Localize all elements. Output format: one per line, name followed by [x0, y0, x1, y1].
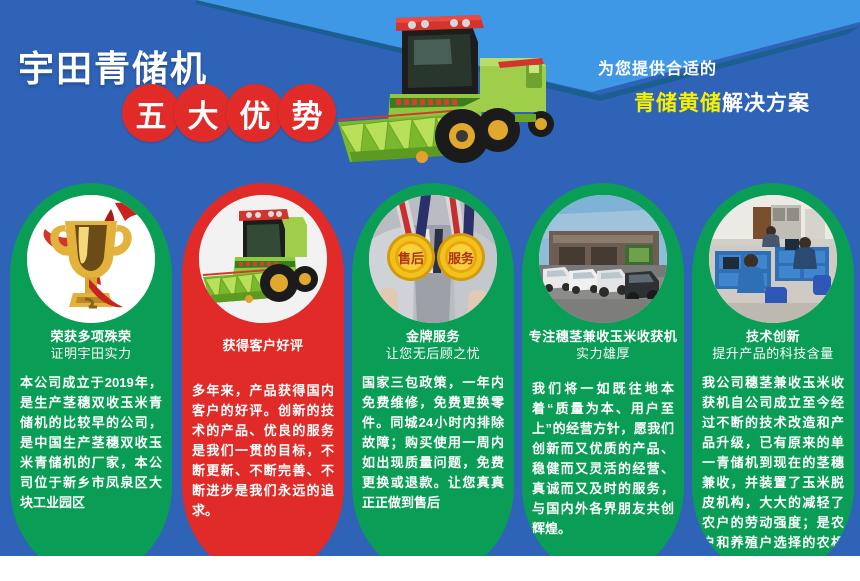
corn-silage-harvester-image — [330, 2, 580, 174]
card-1-title: 荣获多项殊荣 证明宇田实力 — [14, 328, 168, 363]
card-2-body: 多年来，产品获得国内客户的好评。创新的技术的产品、优良的服务是我们一贯的目标，不… — [192, 381, 334, 521]
card-4-title-line2: 实力雄厚 — [526, 345, 680, 363]
card-1-body: 本公司成立于2019年，是生产茎穗双收玉米青储机的比较早的公司，是中国生产茎穗双… — [20, 373, 162, 513]
card-4-title: 专注穗茎兼收玉米收获机 实力雄厚 — [526, 328, 680, 363]
advantage-card-5[interactable]: 技术创新 提升产品的科技含量 我公司穗茎兼收玉米收获机自公司成立至今经过不断的技… — [692, 183, 854, 578]
gold-medals-photo: 售后 服务 — [369, 195, 497, 323]
advantage-card-2[interactable]: 获得客户好评 多年来，产品获得国内客户的好评。创新的技术的产品、优良的服务是我们… — [182, 183, 344, 578]
card-5-body: 我公司穗茎兼收玉米收获机自公司成立至今经过不断的技术改造和产品升级，已有原来的单… — [702, 373, 844, 573]
card-5-title-line1: 技术创新 — [696, 328, 850, 345]
card-3-title-line1: 金牌服务 — [356, 328, 510, 345]
card-3-title: 金牌服务 让您无后顾之忧 — [356, 328, 510, 363]
card-4-title-line1: 专注穗茎兼收玉米收获机 — [526, 328, 680, 345]
card-3-title-line2: 让您无后顾之忧 — [356, 345, 510, 363]
card-1-title-line1: 荣获多项殊荣 — [14, 328, 168, 345]
promo-banner: 宇田青储机 五 大 优 势 为您提供合适的 青储黄储解决方案 — [0, 0, 860, 581]
card-5-title-line2: 提升产品的科技含量 — [696, 345, 850, 363]
card-3-body: 国家三包政策，一年内免费维修，免费更换零件。同城24小时内排除故障；购买使用一周… — [362, 373, 504, 513]
trophy-icon — [27, 195, 155, 323]
badge-char-4: 势 — [278, 84, 336, 142]
card-2-title-line1: 获得客户好评 — [186, 328, 340, 354]
svg-text:服务: 服务 — [448, 251, 475, 267]
badge-char-3: 优 — [226, 84, 284, 142]
tagline-highlight: 青储黄储 — [634, 92, 722, 115]
card-1-title-line2: 证明宇田实力 — [14, 345, 168, 363]
advantage-card-1[interactable]: 荣获多项殊荣 证明宇田实力 本公司成立于2019年，是生产茎穗双收玉米青储机的比… — [10, 183, 172, 578]
tagline-line-1: 为您提供合适的 — [598, 55, 810, 79]
svg-text:售后: 售后 — [398, 251, 424, 267]
advantage-card-4[interactable]: 专注穗茎兼收玉米收获机 实力雄厚 我们将一如既往地本着“质量为本、用户至上”的经… — [522, 183, 684, 578]
advantage-card-3[interactable]: 售后 服务 金牌服务 让您无后顾之忧 国家三包政策，一年内免费维修，免费更换零件… — [352, 183, 514, 578]
card-4-body: 我们将一如既往地本着“质量为本、用户至上”的经营方针，愿我们创新而又优质的产品、… — [532, 379, 674, 539]
vehicle-fleet-photo — [539, 195, 667, 323]
badge-char-2: 大 — [174, 84, 232, 142]
tagline-rest: 解决方案 — [722, 92, 810, 115]
tagline-line-2: 青储黄储解决方案 — [634, 87, 810, 117]
badge-char-1: 五 — [122, 84, 180, 142]
five-advantages-badge: 五 大 优 势 — [122, 84, 330, 142]
bottom-white-strip — [0, 556, 860, 581]
advantage-cards: 荣获多项殊荣 证明宇田实力 本公司成立于2019年，是生产茎穗双收玉米青储机的比… — [0, 183, 860, 581]
card-5-title: 技术创新 提升产品的科技含量 — [696, 328, 850, 363]
banner-tagline: 为您提供合适的 青储黄储解决方案 — [598, 55, 810, 117]
harvester-photo — [199, 195, 327, 323]
office-workstations-photo — [709, 195, 837, 323]
card-2-title: 获得客户好评 — [186, 328, 340, 354]
